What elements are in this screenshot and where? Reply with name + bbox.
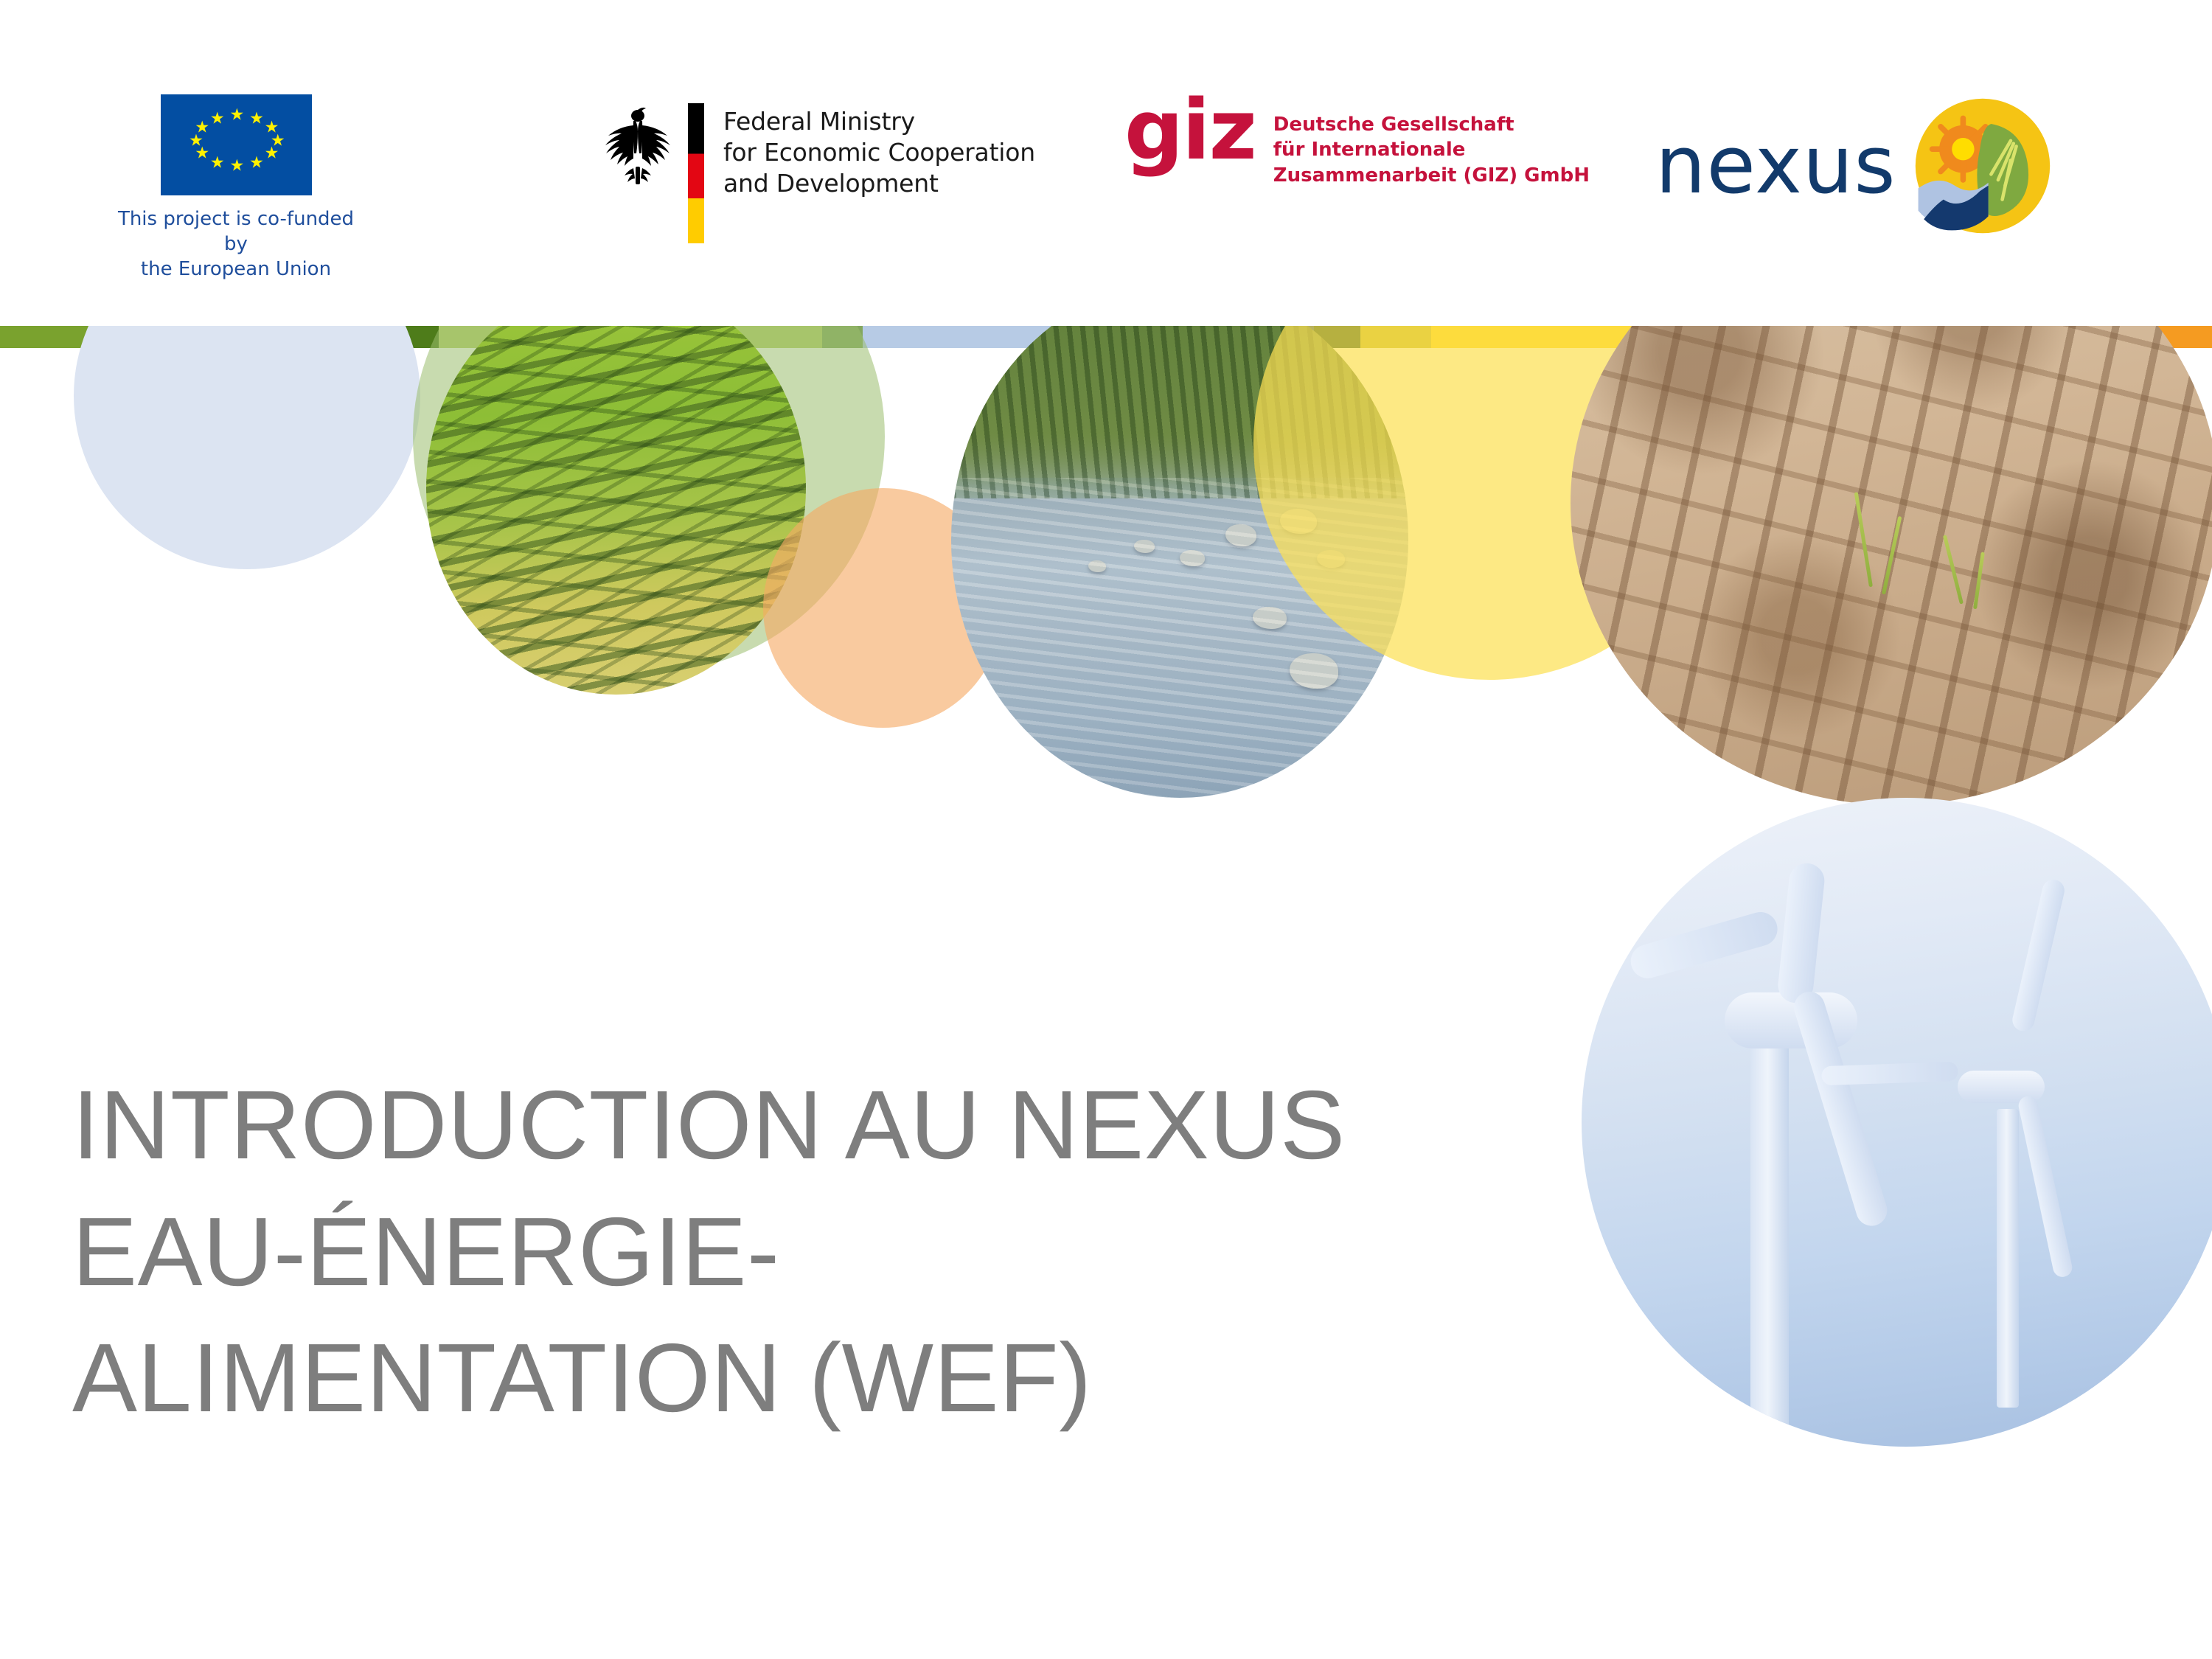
giz-line-2: für Internationale <box>1273 137 1590 162</box>
slide-title-line-2: EAU-ÉNERGIE- <box>72 1189 1621 1315</box>
river-rock <box>1253 607 1287 629</box>
german-flag-bar-icon <box>688 103 704 243</box>
rice-terraces-image <box>426 326 806 695</box>
german-eagle-icon <box>601 103 675 188</box>
cracked-soil-image <box>1571 326 2212 805</box>
soil-sprout <box>1882 516 1902 595</box>
river-rock <box>1225 524 1256 546</box>
cracked-soil-photo-circle <box>1571 326 2212 805</box>
river-rock <box>1180 550 1205 566</box>
eu-star-icon: ★ <box>249 111 262 124</box>
rice-terraces-photo-circle <box>426 326 806 695</box>
eu-caption-line-1: This project is co-funded by <box>111 207 361 257</box>
eu-star-icon: ★ <box>265 147 277 159</box>
soil-sprout <box>1973 552 1985 609</box>
slide-title-line-1: INTRODUCTION AU NEXUS <box>72 1062 1621 1189</box>
wind-turbine-background <box>1582 798 2212 1447</box>
eu-star-icon: ★ <box>210 111 223 124</box>
turbine-tower <box>1997 1109 2019 1408</box>
bmz-line-1: Federal Ministry <box>723 106 1035 137</box>
pale-blue-circle <box>74 326 420 569</box>
european-union-logo: ★ ★ ★ ★ ★ ★ ★ ★ ★ ★ ★ ★ This project is … <box>111 94 361 282</box>
eu-flag-icon: ★ ★ ★ ★ ★ ★ ★ ★ ★ ★ ★ ★ <box>161 94 312 195</box>
wind-turbines-image <box>1582 798 2212 1447</box>
eu-stars-group: ★ ★ ★ ★ ★ ★ ★ ★ ★ ★ ★ ★ <box>161 94 312 195</box>
river-rock <box>1290 653 1338 689</box>
turbine-blade <box>2010 877 2066 1033</box>
giz-line-1: Deutsche Gesellschaft <box>1273 112 1590 137</box>
giz-text: Deutsche Gesellschaft für Internationale… <box>1273 103 1590 188</box>
giz-line-3: Zusammenarbeit (GIZ) GmbH <box>1273 163 1590 188</box>
turbine-blade <box>2017 1094 2073 1279</box>
bmz-logo: Federal Ministry for Economic Cooperatio… <box>601 103 1035 243</box>
nexus-wordmark: nexus <box>1655 126 1896 206</box>
slide-title-line-3: ALIMENTATION (WEF) <box>72 1315 1621 1441</box>
slide-title: INTRODUCTION AU NEXUS EAU-ÉNERGIE- ALIME… <box>72 1062 1621 1441</box>
eu-caption: This project is co-funded by the Europea… <box>111 207 361 282</box>
eu-star-icon: ★ <box>230 108 243 121</box>
turbine-blade <box>1821 1062 1958 1085</box>
logo-header-bar: ★ ★ ★ ★ ★ ★ ★ ★ ★ ★ ★ ★ This project is … <box>0 0 2212 317</box>
eu-caption-line-2: the European Union <box>111 257 361 282</box>
soil-sprout <box>1943 535 1964 604</box>
eu-star-icon: ★ <box>249 156 262 168</box>
nexus-logo: nexus <box>1655 96 2053 236</box>
nexus-emblem-icon <box>1913 96 2053 236</box>
river-rock <box>1134 540 1155 553</box>
soil-sprout <box>1854 492 1872 587</box>
wind-turbines-photo-circle <box>1582 798 2212 1447</box>
bmz-line-2: for Economic Cooperation <box>723 137 1035 168</box>
giz-wordmark: giz <box>1124 97 1256 165</box>
river-rock <box>1088 560 1106 572</box>
eu-star-icon: ★ <box>210 156 223 168</box>
bmz-line-3: and Development <box>723 168 1035 199</box>
eu-star-icon: ★ <box>230 159 243 171</box>
giz-logo: giz Deutsche Gesellschaft für Internatio… <box>1124 103 1590 188</box>
eu-star-icon: ★ <box>195 120 207 133</box>
bmz-text: Federal Ministry for Economic Cooperatio… <box>723 103 1035 200</box>
